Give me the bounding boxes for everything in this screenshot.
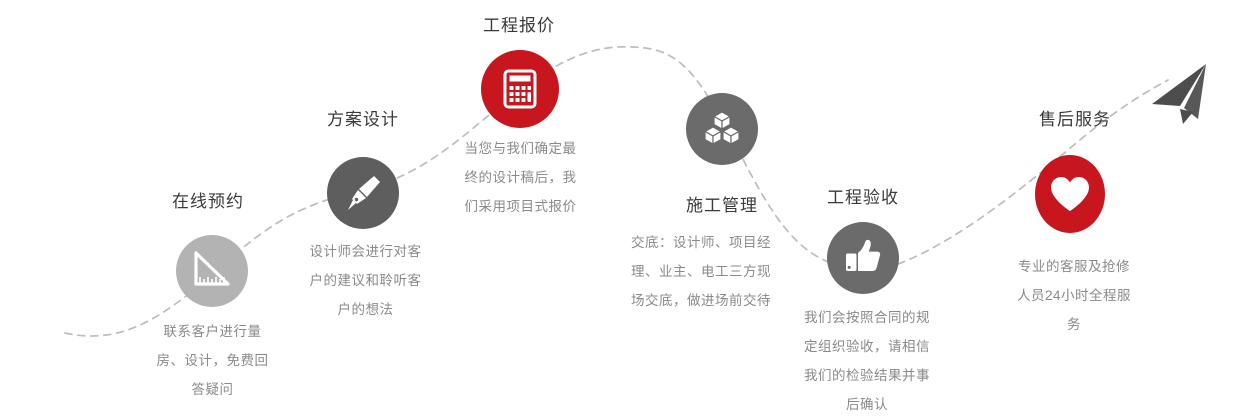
desc-line: 答疑问	[140, 375, 285, 404]
desc-line: 房、设计，免费回	[140, 346, 285, 375]
heart-icon[interactable]	[1035, 155, 1105, 233]
desc-line: 联系客户进行量	[140, 317, 285, 346]
desc-line: 当您与我们确定最	[448, 134, 593, 163]
desc-line: 终的设计稿后，我	[448, 163, 593, 192]
paper-plane-icon	[1150, 62, 1240, 137]
step-description: 交底：设计师、项目经 理、业主、电工三方现 场交底，做进场前交待	[607, 228, 795, 315]
desc-line: 人员24小时全程服	[1000, 281, 1148, 310]
step-description: 联系客户进行量 房、设计，免费回 答疑问	[140, 317, 285, 404]
step-description: 当您与我们确定最 终的设计稿后，我 们采用项目式报价	[448, 134, 593, 221]
desc-line: 定组织验收，请相信	[778, 332, 956, 361]
desc-line: 们采用项目式报价	[448, 192, 593, 221]
step-title: 方案设计	[288, 110, 438, 130]
desc-line: 我们的检验结果并事	[778, 361, 956, 390]
desc-line: 我们会按照合同的规	[778, 303, 956, 332]
desc-line: 交底：设计师、项目经	[607, 228, 795, 257]
step-title: 工程验收	[788, 188, 938, 208]
thumbs-up-icon[interactable]	[827, 222, 899, 294]
desc-line: 场交底，做进场前交待	[607, 286, 795, 315]
step-title: 施工管理	[647, 196, 797, 216]
step-description: 设计师会进行对客 户的建议和聆听客 户的想法	[288, 237, 443, 324]
boxes-icon[interactable]	[686, 93, 758, 165]
flow-diagram: 在线预约 联系客户进行量 房、设计，免费回 答疑问 方案设计	[0, 0, 1245, 402]
desc-line: 后确认	[778, 390, 956, 419]
desc-line: 理、业主、电工三方现	[607, 257, 795, 286]
calculator-icon[interactable]	[481, 50, 559, 128]
desc-line: 务	[1000, 310, 1148, 339]
step-description: 专业的客服及抢修 人员24小时全程服 务	[1000, 252, 1148, 339]
desc-line: 专业的客服及抢修	[1000, 252, 1148, 281]
ruler-triangle-icon[interactable]	[176, 235, 248, 307]
desc-line: 户的建议和聆听客	[288, 266, 443, 295]
desc-line: 设计师会进行对客	[288, 237, 443, 266]
fountain-pen-icon[interactable]	[327, 157, 399, 229]
step-title: 售后服务	[1000, 110, 1150, 130]
step-title: 工程报价	[444, 16, 594, 36]
step-title: 在线预约	[133, 192, 283, 212]
desc-line: 户的想法	[288, 295, 443, 324]
